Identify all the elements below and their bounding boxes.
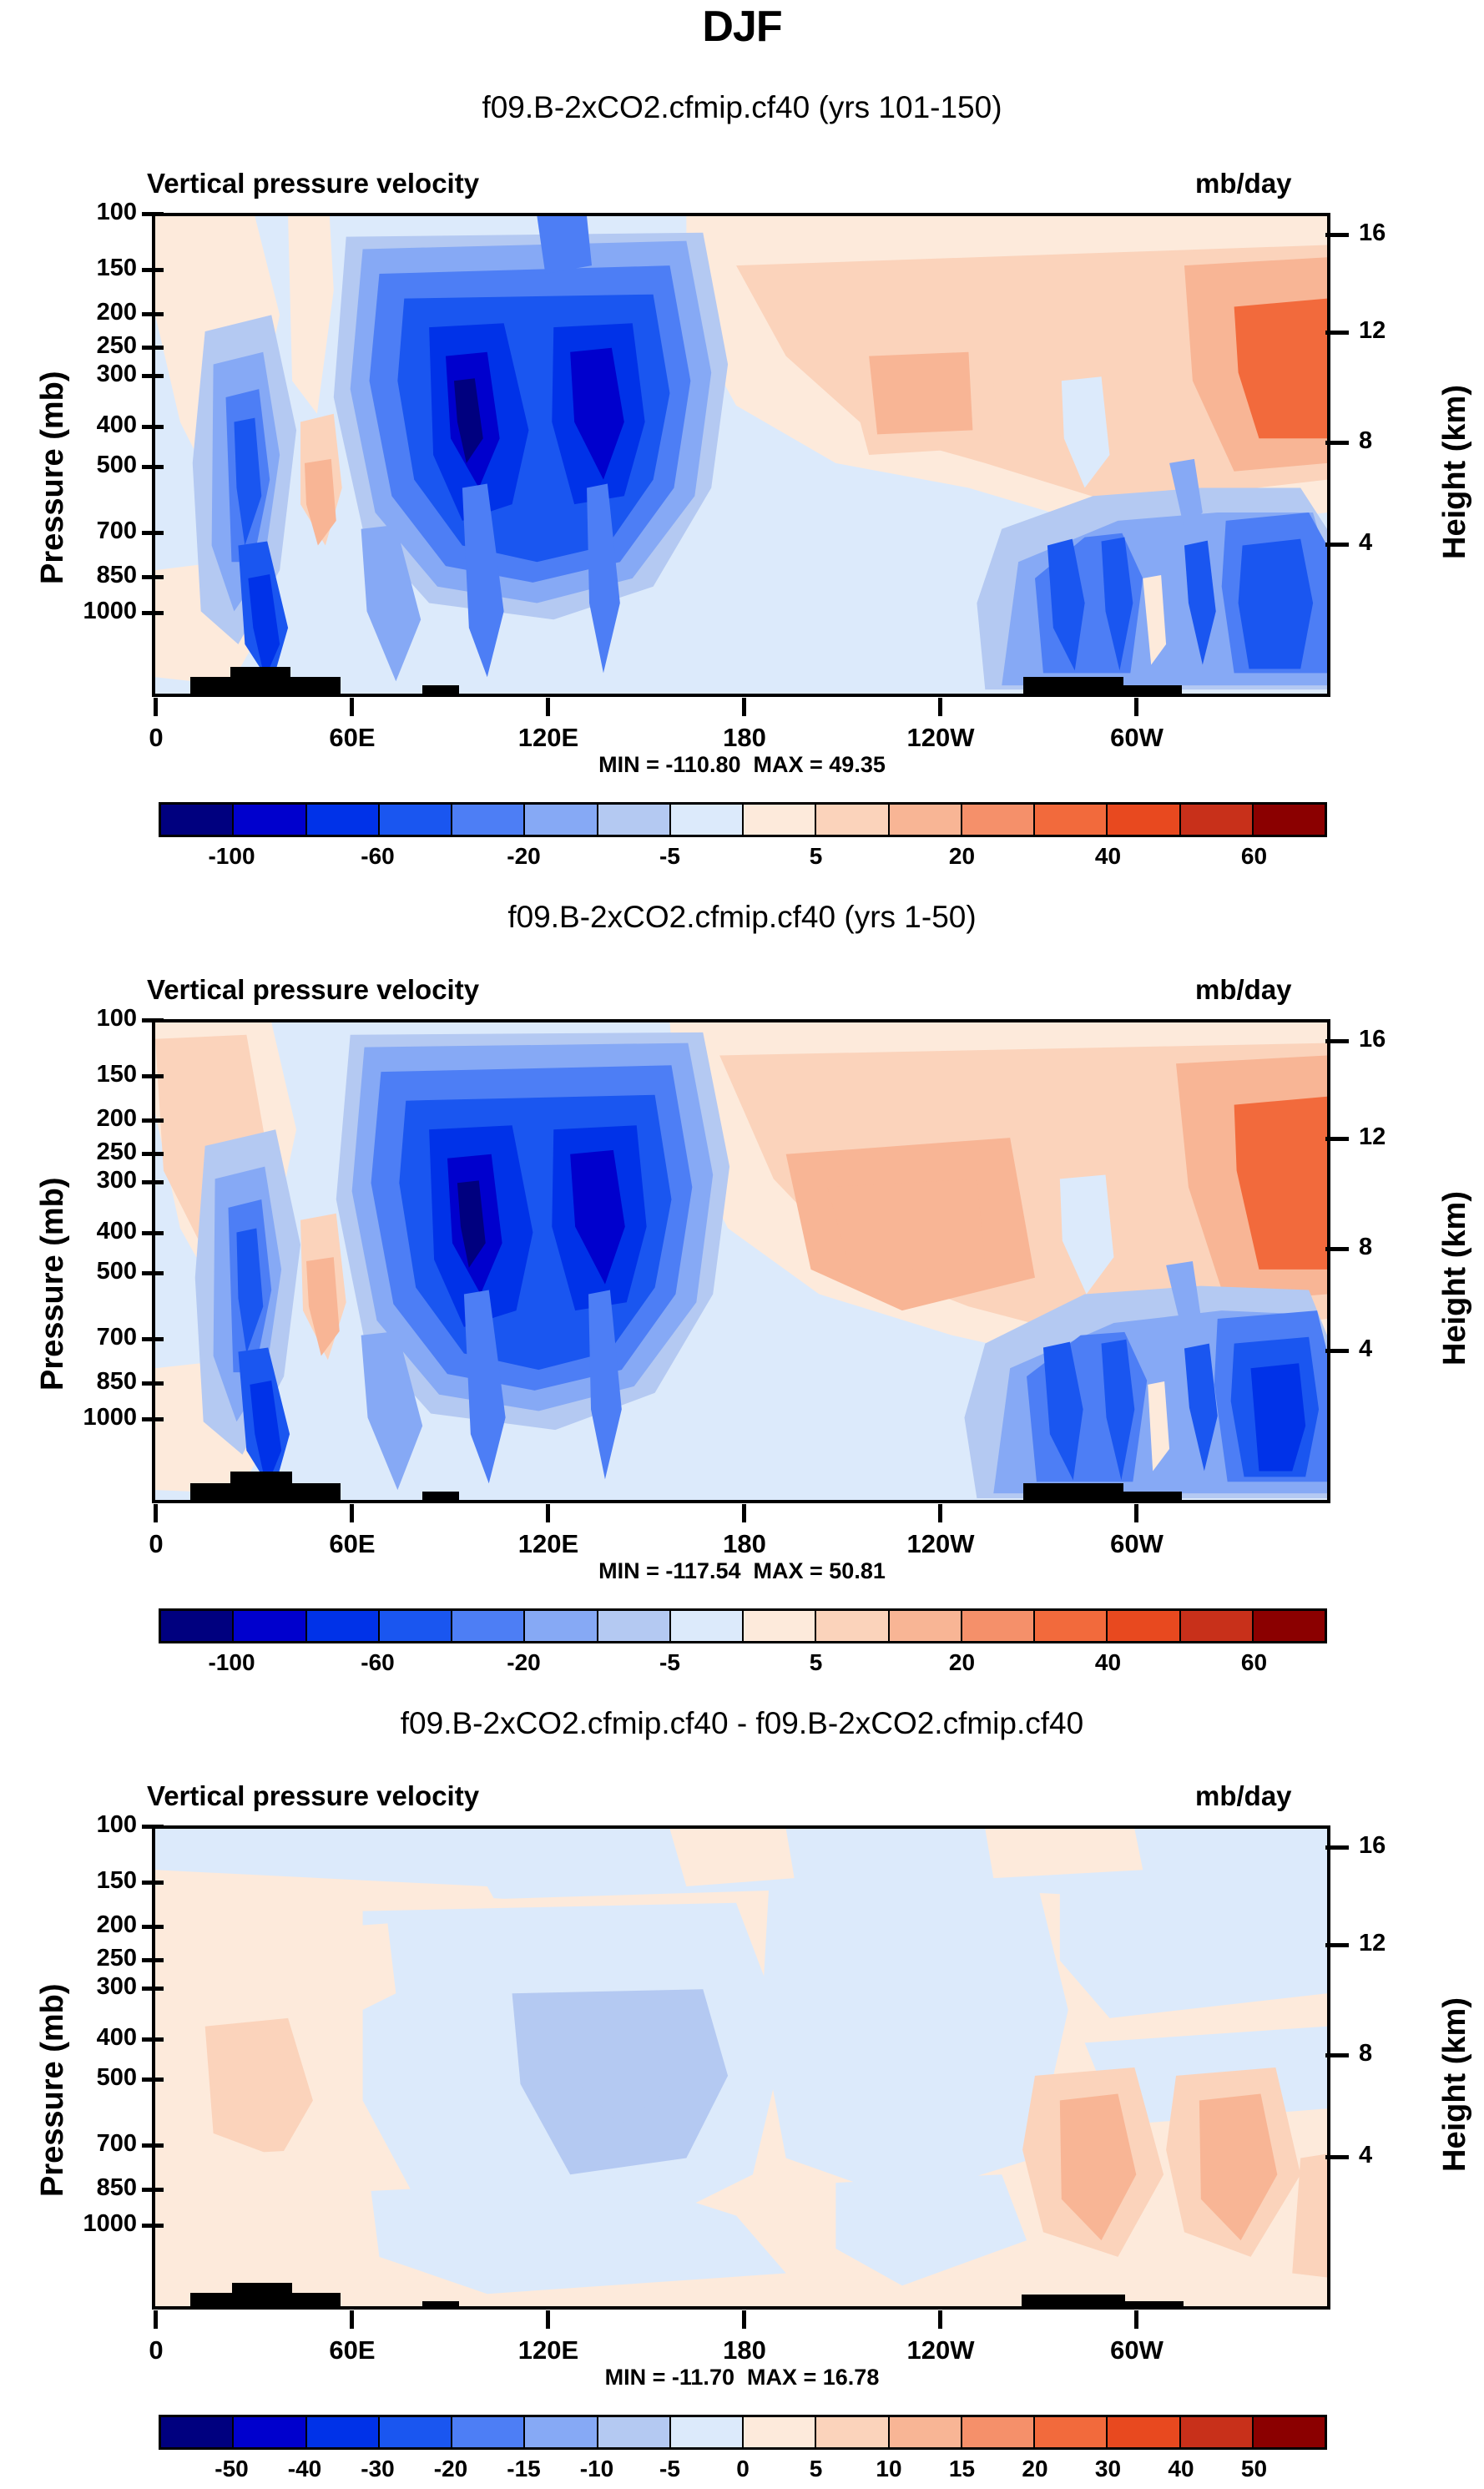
panel-3-y2axis-label: Height (km) bbox=[1437, 1997, 1473, 2172]
panel-3-colorbar bbox=[159, 2415, 1327, 2450]
panel-1-units-label: mb/day bbox=[1195, 168, 1292, 199]
colorbar-tick-label: 5 bbox=[766, 843, 866, 870]
panel-2-ytick-150: 150 bbox=[43, 1061, 137, 1088]
colorbar-cell bbox=[161, 805, 234, 835]
panel-3-title: f09.B-2xCO2.cfmip.cf40 - f09.B-2xCO2.cfm… bbox=[0, 1706, 1484, 1741]
colorbar-cell bbox=[890, 805, 962, 835]
panel-1-tick bbox=[142, 531, 164, 535]
panel-2-xlabel-60w: 60W bbox=[1074, 1529, 1199, 1559]
colorbar-tick-label: -20 bbox=[474, 843, 574, 870]
colorbar-cell bbox=[890, 2417, 962, 2447]
panel-3-ytick-400: 400 bbox=[43, 2024, 137, 2052]
panel-1-terrain-block bbox=[1023, 677, 1123, 697]
panel-2-terrain-block bbox=[190, 1483, 230, 1503]
panel-3-y2tick-16: 16 bbox=[1359, 1832, 1386, 1860]
panel-1-tick bbox=[142, 374, 164, 378]
panel-2-tick bbox=[142, 1152, 164, 1156]
panel-2-tick bbox=[142, 1118, 164, 1123]
colorbar-cell bbox=[1108, 1611, 1180, 1641]
panel-3-terrain-block bbox=[232, 2283, 292, 2310]
panel-2-ytick-200: 200 bbox=[43, 1105, 137, 1133]
panel-1-terrain-block bbox=[290, 677, 341, 697]
colorbar-cell bbox=[816, 805, 889, 835]
panel-1-tick-right bbox=[1325, 331, 1349, 335]
panel-3-xlabel-120e: 120E bbox=[486, 2335, 611, 2365]
panel-2-ytick-400: 400 bbox=[43, 1218, 137, 1245]
panel-1-xtick bbox=[546, 698, 550, 716]
panel-3-terrain-block bbox=[1022, 2295, 1125, 2310]
colorbar-cell bbox=[744, 1611, 816, 1641]
colorbar-cell bbox=[234, 1611, 306, 1641]
colorbar-cell bbox=[1181, 2417, 1254, 2447]
panel-1-ytick-300: 300 bbox=[43, 361, 137, 388]
panel-1-xtick bbox=[154, 698, 158, 716]
panel-1-ytick-100: 100 bbox=[43, 199, 137, 226]
panel-3-ytick-1000: 1000 bbox=[32, 2210, 137, 2238]
panel-1-colorbar bbox=[159, 802, 1327, 837]
panel-3-tick bbox=[142, 1925, 164, 1929]
colorbar-tick-label: 20 bbox=[912, 1649, 1012, 1676]
panel-3-colorbar-labels: -50-40-30-20-15-10-505101520304050 bbox=[159, 2456, 1327, 2489]
panel-3-xtick bbox=[1134, 2310, 1138, 2329]
panel-1-title: f09.B-2xCO2.cfmip.cf40 (yrs 101-150) bbox=[0, 90, 1484, 125]
panel-1-ytick-250: 250 bbox=[43, 332, 137, 360]
colorbar-cell bbox=[452, 805, 525, 835]
panel-3-tick bbox=[142, 2143, 164, 2148]
panel-1-tick-right bbox=[1325, 233, 1349, 237]
panel-1-tick bbox=[142, 611, 164, 615]
colorbar-tick-label: 40 bbox=[1058, 843, 1158, 870]
colorbar-cell bbox=[525, 2417, 598, 2447]
panel-2-y2axis-label: Height (km) bbox=[1437, 1191, 1473, 1366]
panel-2-y2tick-8: 8 bbox=[1359, 1234, 1372, 1261]
panel-3-tick bbox=[142, 1958, 164, 1962]
panel-1-xlabel-120w: 120W bbox=[878, 723, 1003, 753]
panel-2-title: f09.B-2xCO2.cfmip.cf40 (yrs 1-50) bbox=[0, 900, 1484, 935]
panel-3-contour-field bbox=[155, 1829, 1327, 2306]
panel-3-ytick-700: 700 bbox=[43, 2130, 137, 2158]
panel-1-tick bbox=[142, 465, 164, 469]
panel-3-tick-right bbox=[1325, 1943, 1349, 1947]
panel-2-tick bbox=[142, 1381, 164, 1386]
panel-1-max-label: MAX = 49.35 bbox=[754, 752, 886, 777]
colorbar-tick-label: -60 bbox=[328, 1649, 428, 1676]
colorbar-cell bbox=[671, 2417, 744, 2447]
colorbar-tick-label: -100 bbox=[182, 1649, 282, 1676]
colorbar-cell bbox=[962, 2417, 1035, 2447]
colorbar-cell bbox=[380, 1611, 452, 1641]
panel-1-terrain-block bbox=[190, 677, 230, 697]
panel-1-ytick-700: 700 bbox=[43, 517, 137, 545]
colorbar-cell bbox=[380, 805, 452, 835]
panel-2-colorbar bbox=[159, 1608, 1327, 1643]
panel-3-xtick bbox=[546, 2310, 550, 2329]
panel-2-ytick-700: 700 bbox=[43, 1324, 137, 1351]
panel-3-ytick-150: 150 bbox=[43, 1867, 137, 1895]
panel-2-tick-right bbox=[1325, 1137, 1349, 1141]
panel-3-xtick bbox=[350, 2310, 354, 2329]
panel-1-min-label: MIN = -110.80 bbox=[598, 752, 740, 777]
panel-2-xtick bbox=[938, 1504, 942, 1522]
panel-3-terrain-block bbox=[422, 2301, 459, 2310]
panel-1-xtick bbox=[1134, 698, 1138, 716]
colorbar-cell bbox=[525, 805, 598, 835]
panel-1-plot-area bbox=[152, 213, 1330, 697]
colorbar-tick-label: 20 bbox=[912, 843, 1012, 870]
colorbar-cell bbox=[307, 2417, 380, 2447]
colorbar-tick-label: 40 bbox=[1058, 1649, 1158, 1676]
panel-1-terrain-block bbox=[422, 685, 459, 697]
colorbar-cell bbox=[234, 2417, 306, 2447]
panel-2-xlabel-60e: 60E bbox=[290, 1529, 415, 1559]
panel-2-terrain-block bbox=[292, 1483, 341, 1503]
panel-2-ytick-850: 850 bbox=[43, 1368, 137, 1396]
panel-2-tick bbox=[142, 1337, 164, 1341]
colorbar-tick-label: 60 bbox=[1204, 1649, 1305, 1676]
panel-1-minmax: MIN = -110.80 MAX = 49.35 bbox=[0, 752, 1484, 778]
colorbar-cell bbox=[161, 1611, 234, 1641]
panel-1-xtick bbox=[742, 698, 746, 716]
colorbar-cell bbox=[744, 2417, 816, 2447]
panel-3-xtick bbox=[154, 2310, 158, 2329]
panel-2-xlabel-120e: 120E bbox=[486, 1529, 611, 1559]
panel-2-tick bbox=[142, 1417, 164, 1421]
panel-2-tick bbox=[142, 1180, 164, 1184]
panel-2-xtick bbox=[546, 1504, 550, 1522]
panel-3-tick bbox=[142, 1881, 164, 1885]
panel-1-tick bbox=[142, 575, 164, 579]
colorbar-tick-label: 50 bbox=[1204, 2456, 1305, 2482]
panel-1-ytick-200: 200 bbox=[43, 299, 137, 326]
colorbar-cell bbox=[744, 805, 816, 835]
panel-2-tick-right bbox=[1325, 1039, 1349, 1043]
panel-1-xtick bbox=[350, 698, 354, 716]
panel-2-ytick-500: 500 bbox=[43, 1258, 137, 1285]
panel-3-tick bbox=[142, 2037, 164, 2042]
panel-3-tick bbox=[142, 1825, 164, 1829]
panel-3-minmax: MIN = -11.70 MAX = 16.78 bbox=[0, 2365, 1484, 2391]
panel-2-terrain-block bbox=[230, 1472, 292, 1503]
colorbar-tick-label: -20 bbox=[474, 1649, 574, 1676]
panel-2-max-label: MAX = 50.81 bbox=[754, 1558, 886, 1583]
panel-2-xlabel-120w: 120W bbox=[878, 1529, 1003, 1559]
panel-3-plot-area bbox=[152, 1825, 1330, 2310]
panel-1-ytick-500: 500 bbox=[43, 452, 137, 479]
panel-1-xtick bbox=[938, 698, 942, 716]
panel-1-colorbar-labels: -100-60-20-55204060 bbox=[159, 843, 1327, 876]
panel-1-y2tick-12: 12 bbox=[1359, 317, 1386, 345]
panel-2-tick bbox=[142, 1231, 164, 1235]
colorbar-cell bbox=[307, 805, 380, 835]
panel-1-y2tick-16: 16 bbox=[1359, 220, 1386, 247]
panel-3-tick-right bbox=[1325, 2053, 1349, 2057]
panel-1-tick bbox=[142, 268, 164, 272]
panel-1-terrain-block bbox=[230, 667, 290, 697]
panel-1-contour-field bbox=[155, 216, 1327, 694]
panel-1-y2axis-label: Height (km) bbox=[1437, 385, 1473, 559]
panel-2-tick bbox=[142, 1271, 164, 1275]
panel-2-xtick bbox=[350, 1504, 354, 1522]
colorbar-tick-label: -60 bbox=[328, 843, 428, 870]
colorbar-cell bbox=[1181, 1611, 1254, 1641]
panel-3-units-label: mb/day bbox=[1195, 1780, 1292, 1812]
panel-3-xlabel-60w: 60W bbox=[1074, 2335, 1199, 2365]
colorbar-cell bbox=[671, 1611, 744, 1641]
panel-3-xlabel-0: 0 bbox=[93, 2335, 219, 2365]
colorbar-tick-label: -5 bbox=[620, 843, 720, 870]
panel-2-xlabel-0: 0 bbox=[93, 1529, 219, 1559]
panel-2-terrain-block bbox=[422, 1492, 459, 1503]
colorbar-tick-label: -100 bbox=[182, 843, 282, 870]
colorbar-tick-label: -5 bbox=[620, 1649, 720, 1676]
panel-2-y2tick-12: 12 bbox=[1359, 1123, 1386, 1151]
colorbar-tick-label: 60 bbox=[1204, 843, 1305, 870]
colorbar-cell bbox=[1035, 2417, 1108, 2447]
panel-3-ytick-250: 250 bbox=[43, 1945, 137, 1972]
colorbar-cell bbox=[671, 805, 744, 835]
panel-2-plot-area bbox=[152, 1019, 1330, 1503]
panel-2-y2tick-4: 4 bbox=[1359, 1335, 1372, 1363]
colorbar-cell bbox=[1254, 805, 1325, 835]
panel-3-tick-right bbox=[1325, 1845, 1349, 1850]
panel-3-terrain-block bbox=[190, 2293, 232, 2310]
panel-1-ytick-400: 400 bbox=[43, 411, 137, 439]
panel-1-ytick-150: 150 bbox=[43, 255, 137, 282]
panel-2-xlabel-180: 180 bbox=[682, 1529, 807, 1559]
panel-1-tick bbox=[142, 312, 164, 316]
panel-2-y2tick-16: 16 bbox=[1359, 1026, 1386, 1053]
colorbar-cell bbox=[1035, 805, 1108, 835]
colorbar-cell bbox=[1108, 2417, 1180, 2447]
panel-1-tick bbox=[142, 346, 164, 350]
colorbar-cell bbox=[234, 805, 306, 835]
panel-1-xlabel-60w: 60W bbox=[1074, 723, 1199, 753]
panel-1-tick-right bbox=[1325, 543, 1349, 547]
panel-3-variable-label: Vertical pressure velocity bbox=[147, 1780, 479, 1812]
panel-2-min-label: MIN = -117.54 bbox=[598, 1558, 740, 1583]
colorbar-cell bbox=[161, 2417, 234, 2447]
panel-2-ytick-1000: 1000 bbox=[32, 1404, 137, 1431]
panel-1-variable-label: Vertical pressure velocity bbox=[147, 168, 479, 199]
panel-3-tick bbox=[142, 2078, 164, 2082]
panel-1-ytick-1000: 1000 bbox=[32, 598, 137, 625]
panel-3-ytick-200: 200 bbox=[43, 1911, 137, 1939]
panel-2-minmax: MIN = -117.54 MAX = 50.81 bbox=[0, 1558, 1484, 1584]
panel-2-tick bbox=[142, 1074, 164, 1078]
colorbar-cell bbox=[598, 2417, 671, 2447]
figure-main-title: DJF bbox=[0, 2, 1484, 52]
colorbar-cell bbox=[1035, 1611, 1108, 1641]
colorbar-cell bbox=[890, 1611, 962, 1641]
panel-2-tick-right bbox=[1325, 1247, 1349, 1251]
colorbar-cell bbox=[816, 1611, 889, 1641]
panel-3-ytick-850: 850 bbox=[43, 2174, 137, 2202]
panel-3-xtick bbox=[938, 2310, 942, 2329]
panel-1-tick bbox=[142, 425, 164, 429]
panel-2-terrain-block bbox=[1023, 1483, 1123, 1503]
panel-3-tick bbox=[142, 1987, 164, 1991]
colorbar-cell bbox=[962, 1611, 1035, 1641]
panel-3-xlabel-180: 180 bbox=[682, 2335, 807, 2365]
panel-3-max-label: MAX = 16.78 bbox=[747, 2365, 879, 2390]
panel-1-xlabel-180: 180 bbox=[682, 723, 807, 753]
colorbar-cell bbox=[380, 2417, 452, 2447]
panel-1-ytick-850: 850 bbox=[43, 562, 137, 589]
panel-3-ytick-500: 500 bbox=[43, 2064, 137, 2092]
panel-2-units-label: mb/day bbox=[1195, 974, 1292, 1006]
panel-2-colorbar-labels: -100-60-20-55204060 bbox=[159, 1649, 1327, 1683]
panel-2-tick-right bbox=[1325, 1349, 1349, 1353]
panel-2-contour-field bbox=[155, 1022, 1327, 1500]
colorbar-cell bbox=[1181, 805, 1254, 835]
colorbar-cell bbox=[1254, 2417, 1325, 2447]
colorbar-cell bbox=[525, 1611, 598, 1641]
panel-3-tick bbox=[142, 2224, 164, 2228]
panel-3-ytick-100: 100 bbox=[43, 1811, 137, 1839]
panel-3-terrain-block bbox=[292, 2293, 341, 2310]
panel-3-y2tick-12: 12 bbox=[1359, 1930, 1386, 1957]
panel-2-ytick-100: 100 bbox=[43, 1005, 137, 1032]
panel-1-xlabel-0: 0 bbox=[93, 723, 219, 753]
panel-3-y2tick-8: 8 bbox=[1359, 2040, 1372, 2067]
panel-1-y2tick-4: 4 bbox=[1359, 529, 1372, 557]
panel-3-tick bbox=[142, 2188, 164, 2192]
panel-1-tick bbox=[142, 212, 164, 216]
panel-1-xlabel-60e: 60E bbox=[290, 723, 415, 753]
panel-3-min-label: MIN = -11.70 bbox=[605, 2365, 734, 2390]
panel-2-terrain-block bbox=[1123, 1492, 1182, 1503]
panel-3-terrain-block bbox=[1125, 2301, 1184, 2310]
panel-2-ytick-300: 300 bbox=[43, 1167, 137, 1194]
panel-3-ytick-300: 300 bbox=[43, 1973, 137, 2001]
colorbar-cell bbox=[816, 2417, 889, 2447]
colorbar-cell bbox=[1108, 805, 1180, 835]
panel-3-xlabel-120w: 120W bbox=[878, 2335, 1003, 2365]
colorbar-cell bbox=[452, 1611, 525, 1641]
panel-3-y2tick-4: 4 bbox=[1359, 2142, 1372, 2169]
panel-1-tick-right bbox=[1325, 441, 1349, 445]
panel-2-ytick-250: 250 bbox=[43, 1138, 137, 1166]
colorbar-tick-label: 5 bbox=[766, 1649, 866, 1676]
panel-2-xtick bbox=[1134, 1504, 1138, 1522]
colorbar-cell bbox=[598, 805, 671, 835]
panel-1-terrain-block bbox=[1123, 685, 1182, 697]
colorbar-cell bbox=[962, 805, 1035, 835]
panel-2-tick bbox=[142, 1018, 164, 1022]
colorbar-cell bbox=[1254, 1611, 1325, 1641]
panel-2-xtick bbox=[742, 1504, 746, 1522]
panel-3-xtick bbox=[742, 2310, 746, 2329]
panel-2-variable-label: Vertical pressure velocity bbox=[147, 974, 479, 1006]
panel-1-xlabel-120e: 120E bbox=[486, 723, 611, 753]
colorbar-cell bbox=[307, 1611, 380, 1641]
panel-2-xtick bbox=[154, 1504, 158, 1522]
panel-3-tick-right bbox=[1325, 2155, 1349, 2159]
panel-3-xlabel-60e: 60E bbox=[290, 2335, 415, 2365]
colorbar-cell bbox=[598, 1611, 671, 1641]
colorbar-cell bbox=[452, 2417, 525, 2447]
panel-1-y2tick-8: 8 bbox=[1359, 427, 1372, 455]
